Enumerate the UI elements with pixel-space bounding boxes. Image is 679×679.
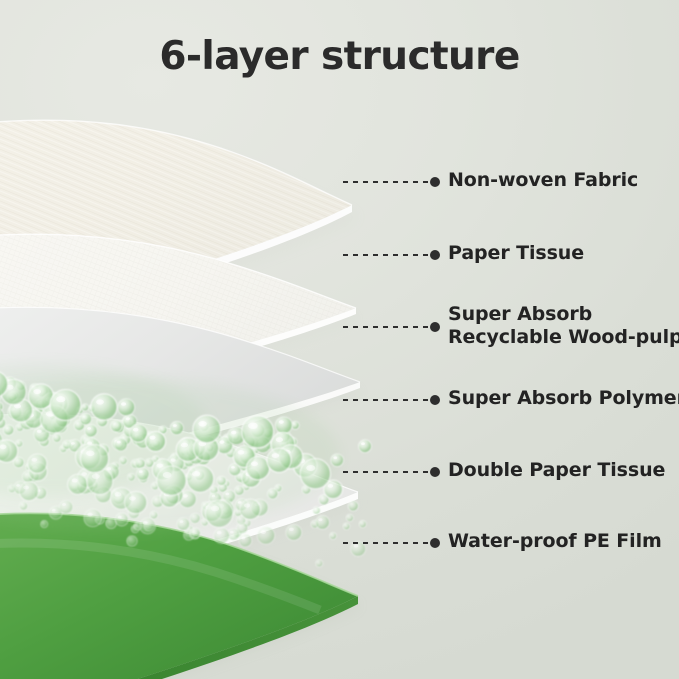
leader-dot — [430, 467, 440, 477]
label-line-1: Super Absorb — [448, 303, 592, 325]
layer-pe-film — [0, 513, 362, 679]
leader-line — [343, 399, 429, 401]
leader-dot — [430, 250, 440, 260]
leader-dot — [430, 395, 440, 405]
layer-label-paper-tissue: Paper Tissue — [448, 242, 584, 265]
layer-label-double-paper-tissue: Double Paper Tissue — [448, 459, 665, 482]
layer-label-wood-pulp: Super AbsorbRecyclable Wood-pulp — [448, 303, 679, 349]
leader-dot — [430, 177, 440, 187]
leader-dot — [430, 322, 440, 332]
leader-line — [343, 326, 429, 328]
leader-line — [343, 254, 429, 256]
leader-line — [343, 471, 429, 473]
layer-label-pe-film: Water-proof PE Film — [448, 530, 662, 553]
leader-line — [343, 542, 429, 544]
leader-dot — [430, 538, 440, 548]
layer-label-non-woven-fabric: Non-woven Fabric — [448, 169, 638, 192]
layer-label-polymer: Super Absorb Polymer — [448, 387, 679, 410]
product-layer-diagram: 6-layer structure — [0, 0, 679, 679]
label-line-2: Recyclable Wood-pulp — [448, 326, 679, 348]
leader-line — [343, 181, 429, 183]
